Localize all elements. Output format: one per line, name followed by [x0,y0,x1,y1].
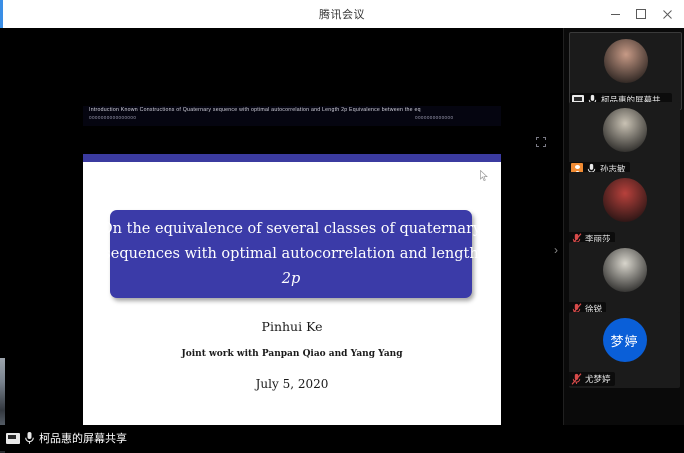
slide-joint-work: Joint work with Panpan Qiao and Yang Yan… [83,349,501,359]
pdf-slide-page[interactable]: On the equivalence of several classes of… [83,162,501,448]
minimize-button[interactable] [602,1,628,27]
avatar [603,178,647,222]
beamer-section-titles: Introduction Known Constructions of Quat… [89,107,421,113]
minimize-icon [611,14,620,15]
participant-name: 尤梦婷 [585,373,611,385]
maximize-icon [636,9,646,19]
participant-tile[interactable]: 柯品惠的屏幕共... [569,32,682,110]
window-controls [602,0,680,28]
participant-tile[interactable]: 梦婷尤梦婷 [569,312,680,388]
slide-title-line-3: 2p [282,267,301,292]
microphone-muted-icon [571,373,582,385]
window-title-bar: 腾讯会议 [0,0,684,29]
participant-nameplate: 尤梦婷 [569,372,615,386]
slide-date: July 5, 2020 [83,377,501,391]
window-title: 腾讯会议 [319,6,365,22]
avatar [603,108,647,152]
beamer-navigation-header: Introduction Known Constructions of Quat… [83,106,501,126]
tencent-meeting-window: 腾讯会议 Introduction Known Constructions of… [0,0,684,451]
participant-tile[interactable]: 徐锐 [569,242,680,318]
slide-title-box: On the equivalence of several classes of… [110,210,472,298]
collapse-participant-rail-button[interactable]: › [549,236,563,264]
shared-screen-view[interactable]: Introduction Known Constructions of Quat… [8,50,558,420]
mouse-cursor-icon [480,170,488,180]
close-icon [663,10,672,19]
maximize-button[interactable] [628,1,654,27]
participant-rail: 柯品惠的屏幕共...孙志敏李丽莎徐锐梦婷尤梦婷 [563,28,684,451]
fullscreen-icon[interactable] [535,135,547,147]
slide-title-line-1: On the equivalence of several classes of… [101,217,481,242]
slide-author: Pinhui Ke [83,319,501,334]
participant-tile[interactable]: 李丽莎 [569,172,680,248]
participant-tile[interactable]: 孙志敏 [569,102,680,178]
avatar [603,248,647,292]
microphone-icon [23,431,36,445]
avatar [604,39,648,83]
beamer-frame-dots-right: 0000000000000 [415,115,453,120]
close-button[interactable] [654,1,680,27]
screen-share-icon [6,433,20,444]
slide-title-line-2: sequences with optimal autocorrelation a… [103,242,478,267]
beamer-title-strip [83,154,501,162]
screen-share-owner-label: 柯品惠的屏幕共享 [39,430,127,446]
avatar: 梦婷 [603,318,647,362]
beamer-frame-dots-left: 0000000000000000 [89,115,136,120]
title-bar-accent-stripe [0,0,3,28]
meeting-stage: Introduction Known Constructions of Quat… [0,28,684,451]
screen-share-status-bar: 柯品惠的屏幕共享 [0,425,684,451]
